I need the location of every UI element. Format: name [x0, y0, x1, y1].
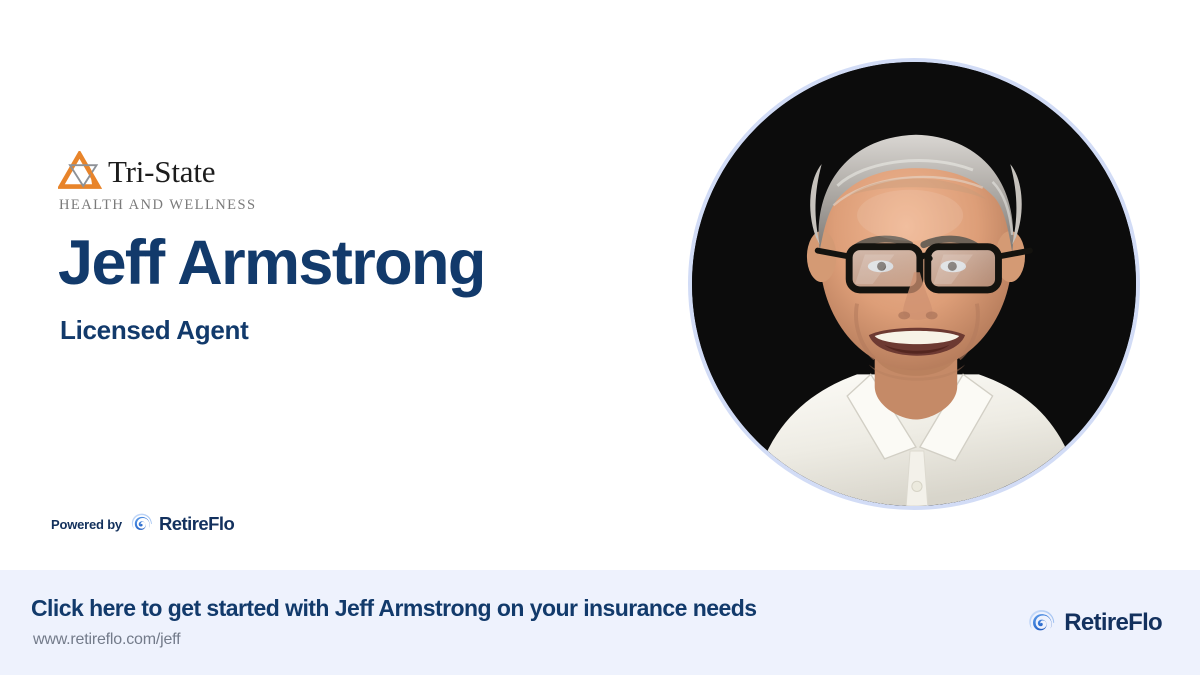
brand-tagline: HEALTH AND WELLNESS — [59, 198, 273, 213]
agent-role: Licensed Agent — [60, 317, 658, 343]
brand-name: Tri-State — [108, 156, 215, 187]
brand-logo-top-row: Tri-State — [58, 148, 273, 194]
agent-photo-image — [692, 62, 1136, 506]
brand-logo: Tri-State HEALTH AND WELLNESS — [58, 148, 273, 213]
cta-text-group: Click here to get started with Jeff Arms… — [31, 597, 756, 648]
hero-left-column: Tri-State HEALTH AND WELLNESS Jeff Armst… — [58, 148, 658, 343]
tri-state-triangle-icon — [58, 151, 102, 191]
powered-by-badge: Powered by — [51, 512, 234, 536]
retireflo-lockup-small[interactable]: RetireFlo — [130, 512, 234, 536]
retireflo-wordmark-large: RetireFlo — [1064, 611, 1162, 635]
agent-photo — [688, 58, 1140, 510]
hero-section: Tri-State HEALTH AND WELLNESS Jeff Armst… — [0, 0, 1200, 570]
cta-headline[interactable]: Click here to get started with Jeff Arms… — [31, 597, 756, 620]
retireflo-wave-icon — [1027, 608, 1057, 638]
cta-url[interactable]: www.retireflo.com/jeff — [33, 632, 756, 648]
powered-by-label: Powered by — [51, 518, 122, 531]
agent-name: Jeff Armstrong — [58, 232, 658, 295]
cta-bar[interactable]: Click here to get started with Jeff Arms… — [0, 570, 1200, 675]
retireflo-wordmark-small: RetireFlo — [159, 515, 234, 534]
agent-landing-card: Tri-State HEALTH AND WELLNESS Jeff Armst… — [0, 0, 1200, 675]
retireflo-wave-icon — [130, 512, 154, 536]
retireflo-lockup-large[interactable]: RetireFlo — [1027, 608, 1162, 638]
